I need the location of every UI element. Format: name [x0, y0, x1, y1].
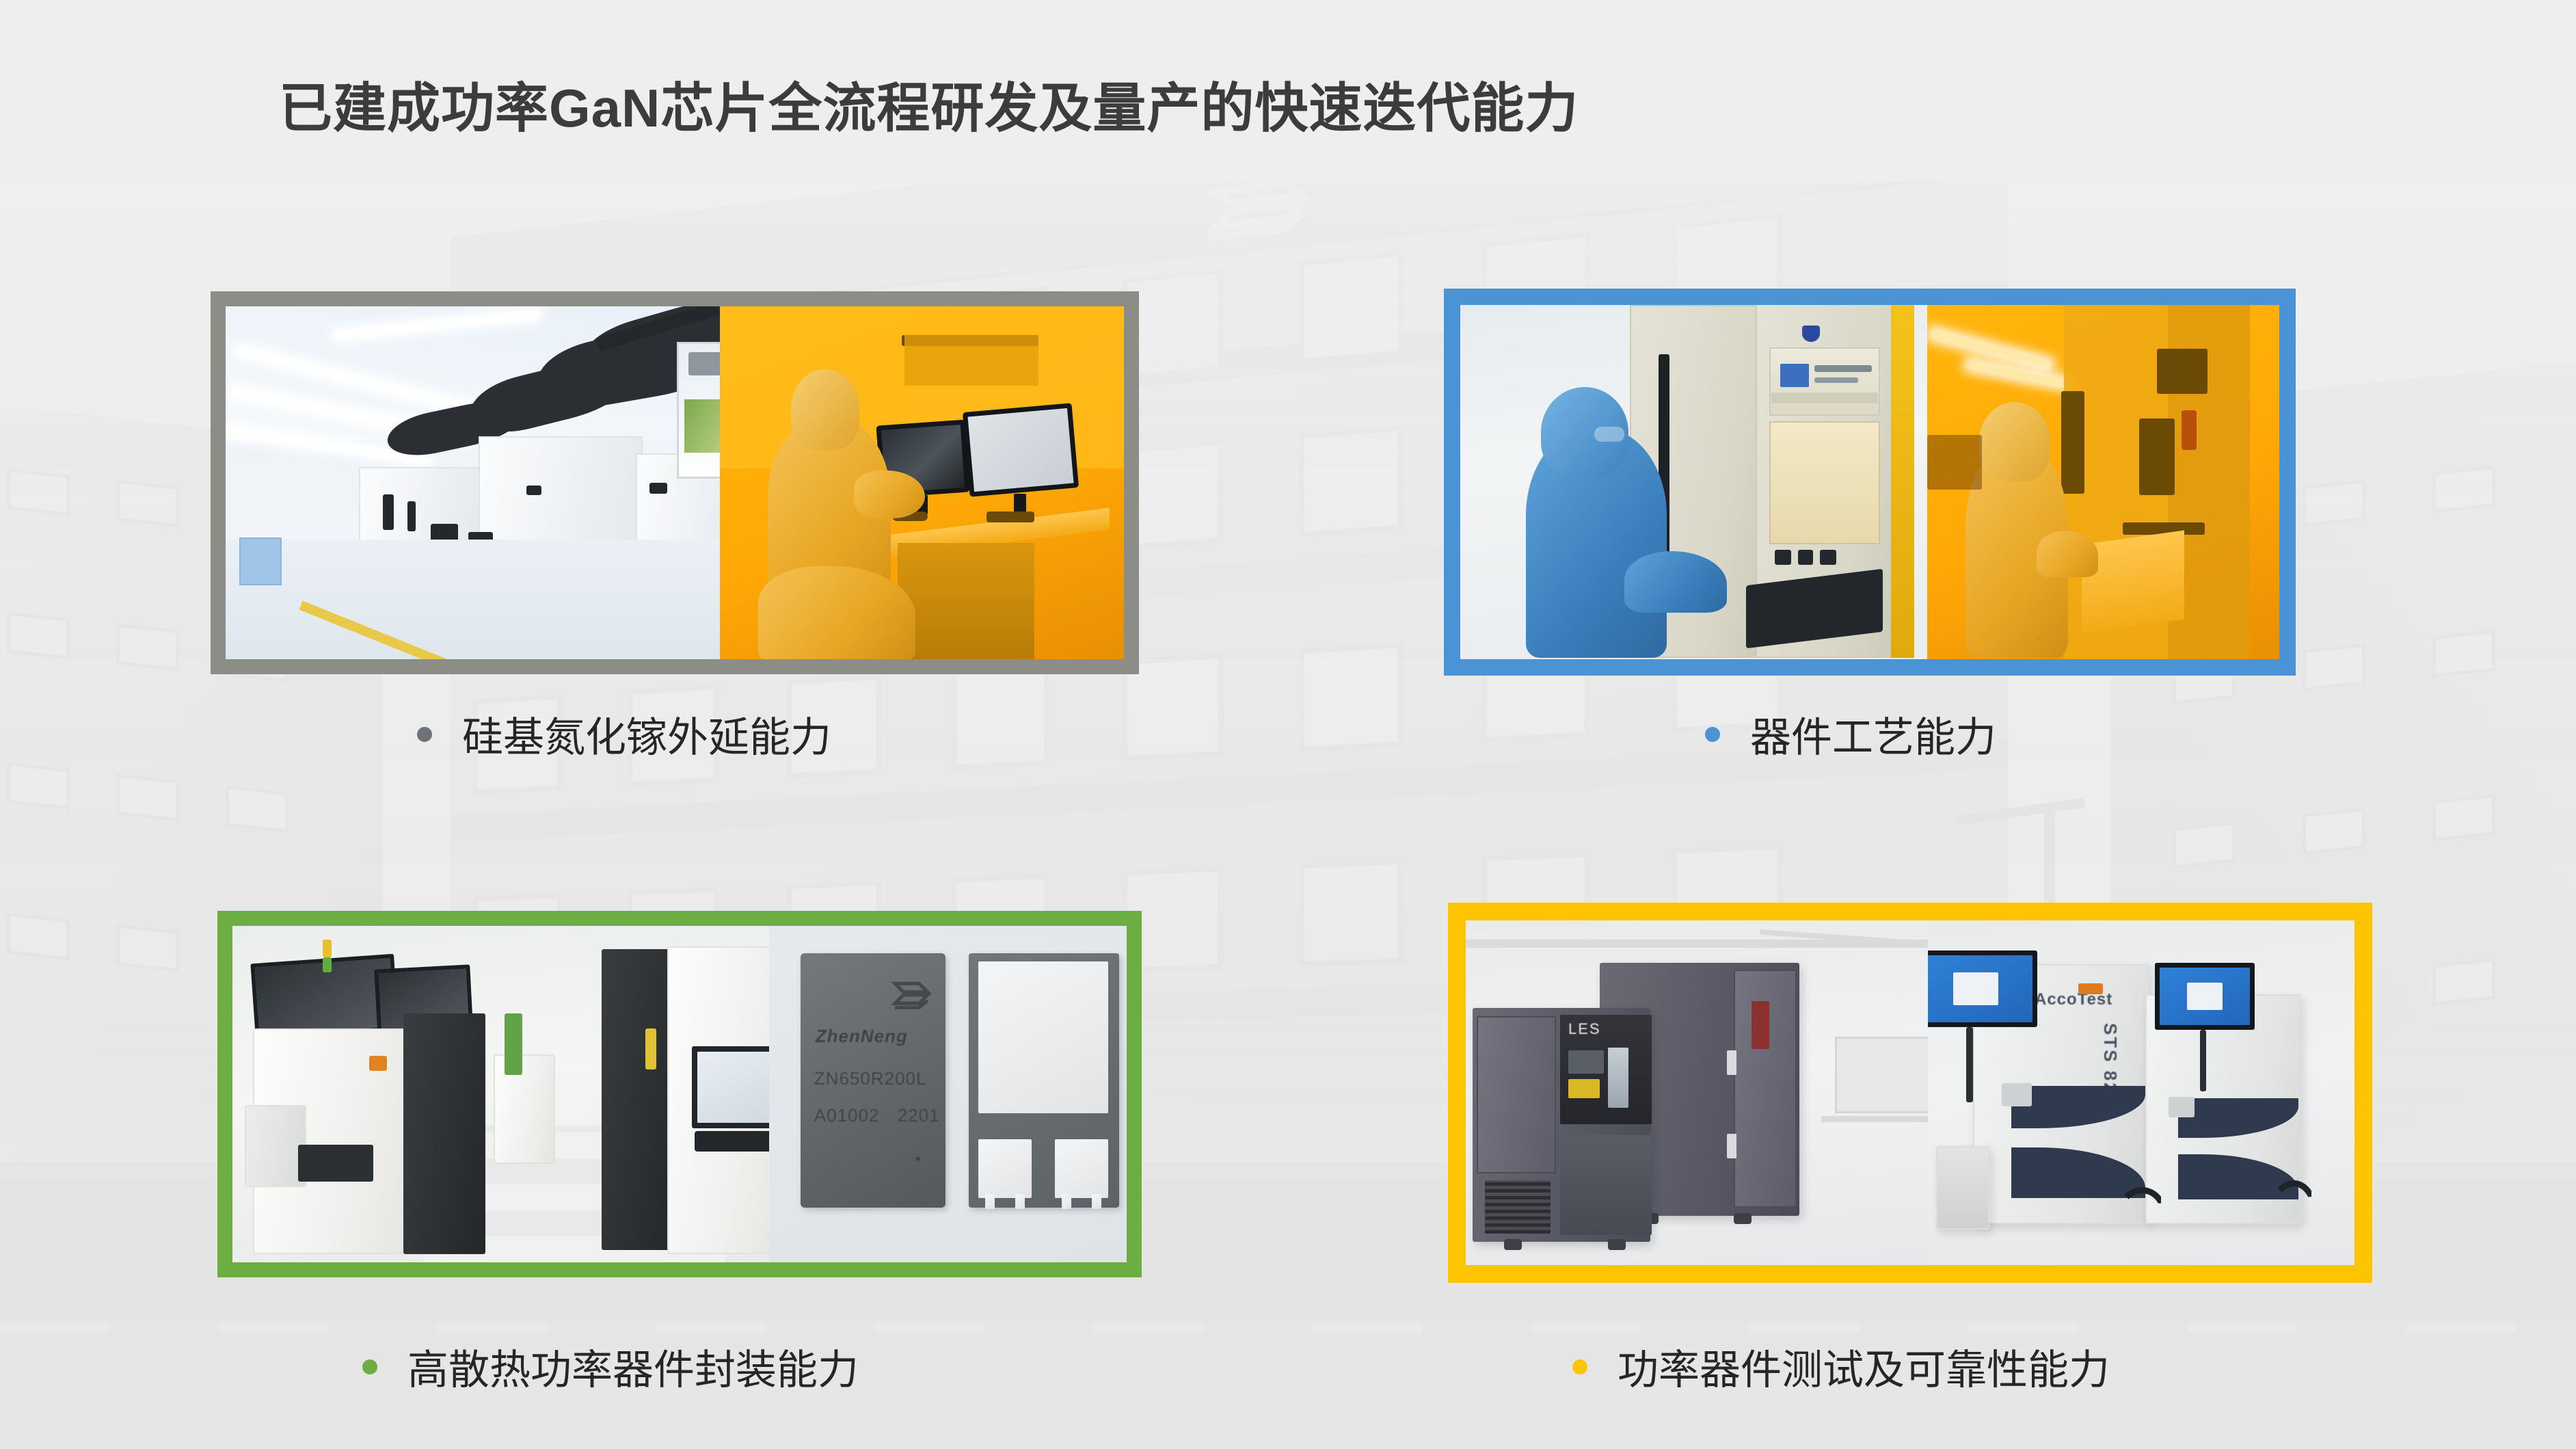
chamber-readout	[1568, 1050, 1604, 1074]
beacon-amber	[323, 940, 332, 957]
operator-hood	[791, 369, 859, 450]
chamber-latch	[1727, 1134, 1736, 1158]
chip-part-number: ZN650R200L	[814, 1068, 927, 1089]
lead-pin	[1015, 1194, 1025, 1209]
caption-packaging: 高散热功率器件封装能力	[362, 1337, 859, 1396]
chamber-warning-label	[1568, 1079, 1600, 1098]
page-title: 已建成功率GaN芯片全流程研发及量产的快速迭代能力	[279, 66, 1579, 142]
chamber-strip-gauge	[1608, 1048, 1628, 1108]
loadport-tray	[2082, 530, 2184, 633]
caption-text-testing: 功率器件测试及可靠性能力	[1618, 1337, 2110, 1396]
slide-canvas: 已建成功率GaN芯片全流程研发及量产的快速迭代能力	[0, 0, 2576, 1449]
safety-goggles	[1594, 427, 1624, 442]
packaged-device-photo: ZhenNeng ZN650R200L A01002 2201 •	[769, 926, 1127, 1262]
tool-readout	[1814, 377, 1858, 383]
emergency-stop	[2182, 410, 2197, 450]
operator-lower-body	[758, 566, 915, 659]
tool-button	[1820, 550, 1836, 565]
tool-button	[1798, 550, 1813, 565]
facility-pillar	[1891, 305, 1914, 658]
monitor-arm	[2200, 1030, 2206, 1091]
tool-label	[649, 483, 667, 494]
operator-hood	[1979, 402, 2050, 481]
mocvd-cleanroom-photo	[226, 306, 720, 659]
chip-lot-code: A01002	[814, 1105, 880, 1126]
epitaxy-operator-console-photo	[720, 306, 1124, 659]
desk-pedestal	[898, 543, 1034, 659]
tool-window	[2157, 349, 2208, 394]
device-process-photo-pair	[1460, 305, 2279, 659]
chamber-brand-text: LES	[1568, 1020, 1601, 1038]
lead-pad-left	[978, 1139, 1032, 1198]
testing-photo-pair: LES AccoTest	[1466, 920, 2354, 1265]
tool-warning-label	[645, 1028, 656, 1069]
bench-chamber: LES	[1473, 1008, 1650, 1242]
lithography-bay-photo	[1927, 305, 2279, 659]
chamber-latch	[1727, 1050, 1736, 1075]
tester-vent	[2169, 1097, 2195, 1117]
chamber-caster	[1504, 1239, 1522, 1250]
tool-status-lamp	[1802, 325, 1820, 342]
tester-monitor-front	[1928, 951, 2037, 1027]
monitor-content-card	[2187, 983, 2223, 1010]
tool-label	[526, 486, 541, 495]
caption-testing: 功率器件测试及可靠性能力	[1572, 1337, 2110, 1396]
chip-pin-marker: •	[915, 1150, 922, 1168]
lead-pin	[985, 1194, 995, 1209]
tester-vent	[2002, 1083, 2032, 1106]
right-monitor	[963, 403, 1079, 496]
tool-trim	[1771, 393, 1878, 403]
brand-swoosh	[2178, 1098, 2298, 1138]
caption-epitaxy: 硅基氮化镓外延能力	[417, 704, 831, 764]
tool-handle	[383, 494, 394, 530]
bullet-packaging	[362, 1359, 377, 1374]
device-back-side	[969, 953, 1119, 1208]
poster-header	[688, 352, 720, 375]
bullet-testing	[1572, 1359, 1587, 1374]
chamber-door	[1477, 1016, 1556, 1173]
lead-pad-right	[1055, 1139, 1108, 1198]
ate-testers-photo: AccoTest STS 8200	[1928, 920, 2354, 1265]
machine-loader	[245, 1105, 306, 1187]
machine-dark-column	[403, 1013, 485, 1254]
epitaxy-photo-pair	[226, 306, 1124, 659]
tester-indicator	[2078, 983, 2103, 994]
caption-text-epitaxy: 硅基氮化镓外延能力	[462, 704, 831, 764]
chamber-caster	[1734, 1213, 1752, 1224]
caption-text-packaging: 高散热功率器件封装能力	[407, 1337, 859, 1396]
tool-handle	[407, 501, 416, 531]
caption-text-device-process: 器件工艺能力	[1750, 704, 1996, 764]
chamber-handle	[1752, 1001, 1769, 1049]
thermal-pad	[978, 961, 1108, 1113]
gas-line	[505, 1013, 522, 1075]
status-indicator	[369, 1056, 387, 1071]
tool-window	[2139, 418, 2175, 495]
tool-dark-door	[602, 949, 677, 1250]
monitor-content-card	[1953, 972, 1998, 1005]
keyboard	[987, 511, 1034, 522]
chamber-caster	[1608, 1239, 1626, 1250]
lead-pin	[1092, 1194, 1101, 1209]
bay-ceiling-light	[1968, 361, 2069, 387]
panel-packaging[interactable]: ZhenNeng ZN650R200L A01002 2201 •	[217, 911, 1142, 1277]
tool-operator-screen	[692, 1046, 769, 1128]
chip-date-code: 2201	[898, 1105, 940, 1126]
background-racks	[1927, 435, 1982, 490]
device-front-side: ZhenNeng ZN650R200L A01002 2201 •	[801, 953, 945, 1208]
bay-ceiling-light	[1930, 330, 2051, 369]
panel-testing[interactable]: LES AccoTest	[1448, 903, 2372, 1283]
bullet-epitaxy	[417, 727, 432, 742]
reliability-chambers-photo: LES	[1466, 920, 1928, 1265]
right-monitor-screen	[967, 408, 1073, 492]
tool-mimic-panel	[1769, 421, 1880, 544]
chip-brand-logo-icon	[891, 976, 933, 1019]
tool-readout	[1814, 365, 1872, 372]
tool-keyboard	[695, 1131, 769, 1152]
wall-rail	[1821, 1116, 1928, 1122]
fab-operator-bluesuit-photo	[1460, 305, 1927, 659]
monitor-arm	[1966, 1027, 1973, 1102]
packaging-photo-pair: ZhenNeng ZN650R200L A01002 2201 •	[232, 926, 1127, 1262]
chamber-lower-cabinet	[1560, 1135, 1652, 1235]
wall-poster	[677, 342, 720, 479]
chip-brand-text: ZhenNeng	[816, 1026, 908, 1047]
tool-screen	[1780, 364, 1809, 387]
tool-window	[2061, 391, 2084, 494]
tester-side-cabinet	[1936, 1146, 1989, 1229]
tool-button	[1775, 550, 1791, 565]
packaging-line-photo	[232, 926, 769, 1262]
panel-device-process[interactable]	[1444, 289, 2296, 676]
machine-conveyor	[298, 1145, 373, 1182]
lead-pin	[1062, 1194, 1071, 1209]
poster-image	[684, 399, 719, 453]
cleanroom-floor	[226, 540, 720, 659]
brand-swoosh	[2011, 1147, 2145, 1198]
overhead-shelf	[904, 335, 1038, 386]
beacon-green	[323, 957, 332, 972]
panel-epitaxy[interactable]	[211, 291, 1139, 674]
caption-device-process: 器件工艺能力	[1705, 704, 1996, 764]
lab-window	[1835, 1037, 1928, 1113]
tester-monitor-rear	[2155, 963, 2255, 1030]
blue-cart	[239, 537, 282, 585]
bullet-device-process	[1705, 727, 1720, 742]
chamber-vent	[1485, 1180, 1551, 1234]
mid-equipment	[494, 1054, 555, 1164]
